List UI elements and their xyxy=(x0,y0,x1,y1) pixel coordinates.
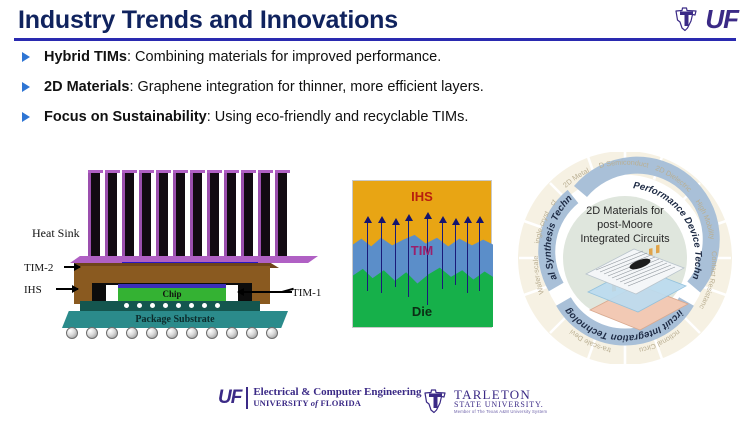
bullet-rest: : Graphene integration for thinner, more… xyxy=(129,79,483,95)
uf-university-a: UNIVERSITY xyxy=(253,398,310,408)
footer-uf-logo: UF Electrical & Computer Engineering UNI… xyxy=(218,387,421,409)
triangle-bullet-icon xyxy=(22,48,44,62)
heat-flow-arrow-icon xyxy=(408,219,409,297)
package-cross-section-figure: Chip Package Substrate Heat Sink TIM-2 I… xyxy=(20,170,340,350)
header-logo: UF xyxy=(671,2,738,36)
heat-sink-fin xyxy=(241,170,253,258)
bullet-lead: Focus on Sustainability xyxy=(44,109,207,125)
solder-ball xyxy=(266,327,278,339)
heat-sink-fin xyxy=(190,170,202,258)
solder-ball xyxy=(126,327,138,339)
ihs-label: IHS xyxy=(24,284,42,296)
solder-balls xyxy=(64,327,286,341)
header-uf-text: UF xyxy=(705,4,738,35)
tim2-label: TIM-2 xyxy=(24,262,53,274)
list-item: 2D Materials: Graphene integration for t… xyxy=(22,78,722,96)
solder-ball xyxy=(166,327,178,339)
chip-bump xyxy=(137,303,142,308)
chip-bump xyxy=(202,303,207,308)
solder-ball xyxy=(86,327,98,339)
solder-ball xyxy=(146,327,158,339)
heat-sink-fins xyxy=(88,170,293,258)
heat-sink-fin xyxy=(258,170,270,258)
tim1-label: TIM-1 xyxy=(292,287,321,299)
heat-sink-fin xyxy=(122,170,134,258)
solder-ball xyxy=(246,327,258,339)
ihs-region-label: IHS xyxy=(353,189,491,204)
tim1-gap-left xyxy=(106,285,118,301)
triangle-bullet-icon xyxy=(22,108,44,122)
2d-materials-wheel-figure: 2D Materials for post-Moore Integrated C… xyxy=(512,152,738,364)
figure-area: Chip Package Substrate Heat Sink TIM-2 I… xyxy=(0,148,750,363)
uf-university-b: FLORIDA xyxy=(318,398,361,408)
chip-bump xyxy=(189,303,194,308)
tarleton-system-note: Member of The Texas A&M University Syste… xyxy=(454,410,547,414)
chip-bumps xyxy=(118,303,226,311)
slide-root: Industry Trends and Innovations UF Hybri… xyxy=(0,0,750,425)
uf-logo-text: Electrical & Computer Engineering UNIVER… xyxy=(253,387,421,408)
bullet-list: Hybrid TIMs: Combining materials for imp… xyxy=(22,48,722,138)
heat-sink-fin xyxy=(139,170,151,258)
footer-tarleton-logo: TARLETON STATE UNIVERSITY. Member of The… xyxy=(420,386,547,416)
heat-sink-fin xyxy=(207,170,219,258)
uf-university-name: UNIVERSITY of FLORIDA xyxy=(253,399,421,408)
die-region-label: Die xyxy=(353,304,491,319)
heat-sink-fin xyxy=(224,170,236,258)
chip-bump xyxy=(176,303,181,308)
chip-bump xyxy=(150,303,155,308)
wheel-center-line1: 2D Materials for xyxy=(586,205,664,217)
heat-sink-fin xyxy=(88,170,100,258)
bullet-lead: 2D Materials xyxy=(44,79,129,95)
tim2-arrow-icon xyxy=(64,266,80,268)
bullet-text: Focus on Sustainability: Using eco-frien… xyxy=(44,108,468,126)
chip-label: Chip xyxy=(118,288,226,301)
bullet-rest: : Combining materials for improved perfo… xyxy=(127,49,441,65)
chip-bump xyxy=(163,303,168,308)
heat-sink-fin xyxy=(275,170,287,258)
list-item: Hybrid TIMs: Combining materials for imp… xyxy=(22,48,722,66)
package-substrate-label: Package Substrate xyxy=(62,311,288,328)
heat-sink-fin xyxy=(173,170,185,258)
chip-bump xyxy=(215,303,220,308)
tarleton-name: TARLETON xyxy=(454,388,547,402)
bullet-rest: : Using eco-friendly and recyclable TIMs… xyxy=(207,109,469,125)
tim-region-label: TIM xyxy=(353,243,491,258)
triangle-bullet-icon xyxy=(22,78,44,92)
tim-interface-figure: IHS TIM Die xyxy=(352,180,492,328)
ihs-arrow-icon xyxy=(56,288,78,290)
tarleton-texas-t-icon xyxy=(671,4,701,34)
title-divider xyxy=(14,38,736,41)
heat-sink-fin xyxy=(105,170,117,258)
wheel-center-line2: post-Moore xyxy=(597,219,653,231)
wheel-center-line3: Integrated Circuits xyxy=(580,233,670,245)
heat-flow-arrow-icon xyxy=(427,217,428,305)
page-title: Industry Trends and Innovations xyxy=(18,6,398,35)
heat-sink-label: Heat Sink xyxy=(32,226,80,241)
bullet-text: Hybrid TIMs: Combining materials for imp… xyxy=(44,48,441,66)
bullet-lead: Hybrid TIMs xyxy=(44,49,127,65)
solder-ball xyxy=(66,327,78,339)
uf-monogram: UF xyxy=(218,387,241,409)
solder-ball xyxy=(206,327,218,339)
solder-ball xyxy=(186,327,198,339)
list-item: Focus on Sustainability: Using eco-frien… xyxy=(22,108,722,126)
uf-logo-divider xyxy=(246,387,248,409)
solder-ball xyxy=(106,327,118,339)
tarleton-logo-text: TARLETON STATE UNIVERSITY. Member of The… xyxy=(454,388,547,414)
slide-footer: UF Electrical & Computer Engineering UNI… xyxy=(0,385,750,419)
bullet-text: 2D Materials: Graphene integration for t… xyxy=(44,78,484,96)
solder-ball xyxy=(226,327,238,339)
tarleton-texas-t-icon xyxy=(420,386,450,416)
heat-sink-fin xyxy=(156,170,168,258)
chip-bump xyxy=(124,303,129,308)
wheel-svg: 2D Materials for post-Moore Integrated C… xyxy=(512,152,738,364)
